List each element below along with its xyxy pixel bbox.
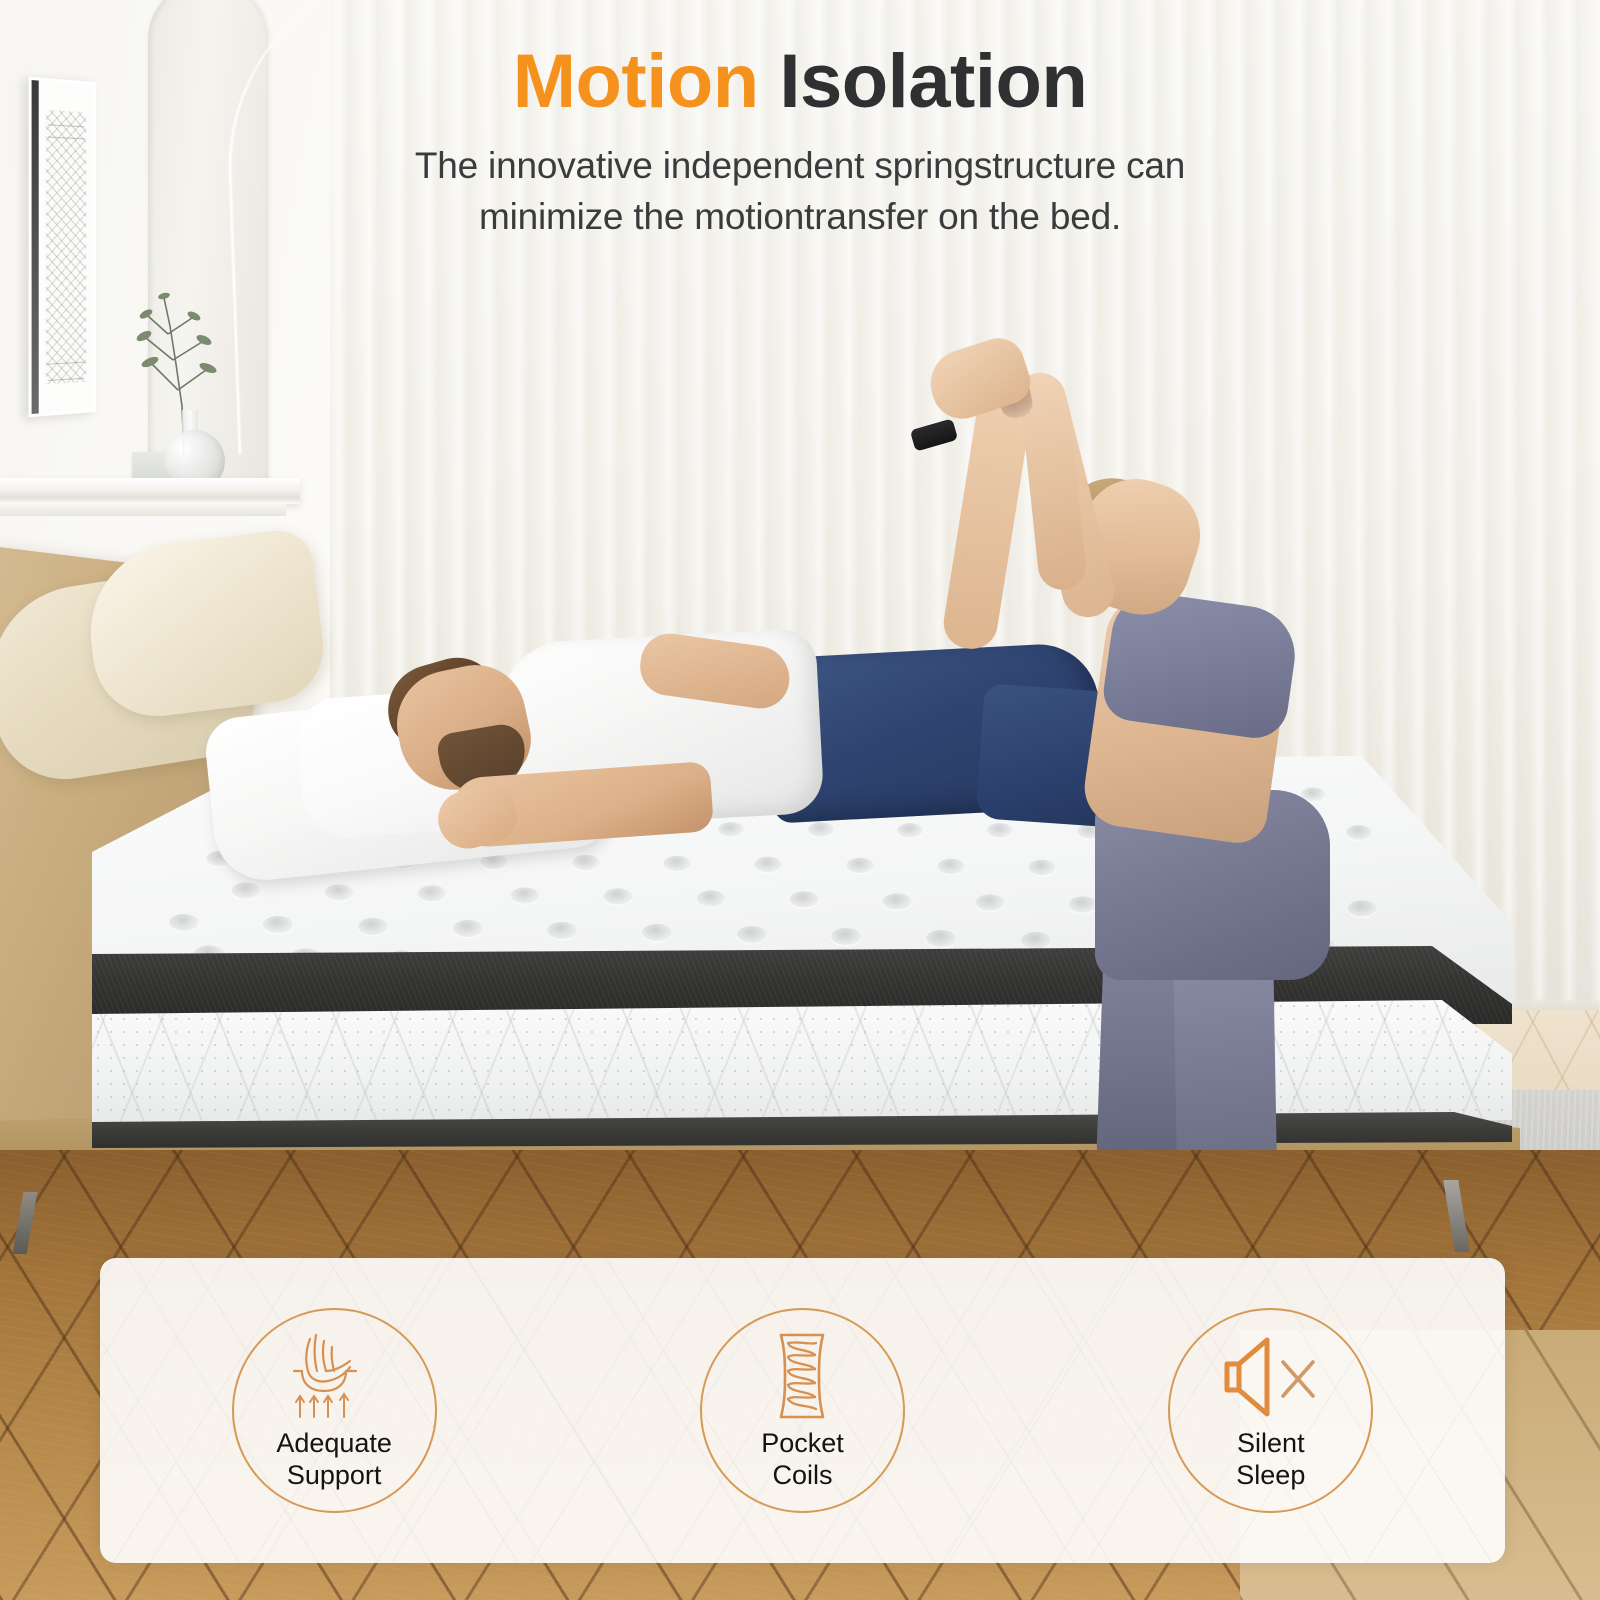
subtitle-line-1: The innovative independent springstructu… [0,140,1600,191]
feature-item-pocket-coils[interactable]: Pocket Coils [568,1258,1036,1563]
feature-label-line-2: Support [276,1460,392,1492]
feature-label-line-1: Adequate [276,1428,392,1460]
hand-supporting-mattress-icon [280,1330,388,1422]
wall-molding-lower [0,504,286,516]
product-infographic: Motion Isolation The innovative independ… [0,0,1600,1600]
feature-label: Pocket Coils [761,1428,844,1492]
page-title: Motion Isolation [0,42,1600,122]
header-block: Motion Isolation The innovative independ… [0,0,1600,242]
feature-label: Adequate Support [276,1428,392,1492]
feature-circle: Adequate Support [232,1308,437,1513]
feature-circle: Pocket Coils [700,1308,905,1513]
olive-branch-decor [126,286,236,456]
page-subtitle: The innovative independent springstructu… [0,140,1600,242]
feature-label-line-2: Coils [761,1460,844,1492]
subtitle-line-2: minimize the motiontransfer on the bed. [0,191,1600,242]
title-accent-word: Motion [513,39,759,124]
wall-molding [0,478,300,504]
feature-label: Silent Sleep [1236,1428,1305,1492]
feature-panel: Adequate Support [100,1258,1505,1563]
feature-label-line-1: Pocket [761,1428,844,1460]
feature-label-line-2: Sleep [1236,1460,1305,1492]
title-rest-word: Isolation [779,39,1087,124]
feature-item-silent-sleep[interactable]: Silent Sleep [1037,1258,1505,1563]
feature-label-line-1: Silent [1236,1428,1305,1460]
feature-item-adequate-support[interactable]: Adequate Support [100,1258,568,1563]
pocket-coil-spring-icon [769,1330,835,1422]
feature-circle: Silent Sleep [1168,1308,1373,1513]
muted-speaker-icon [1219,1330,1323,1422]
